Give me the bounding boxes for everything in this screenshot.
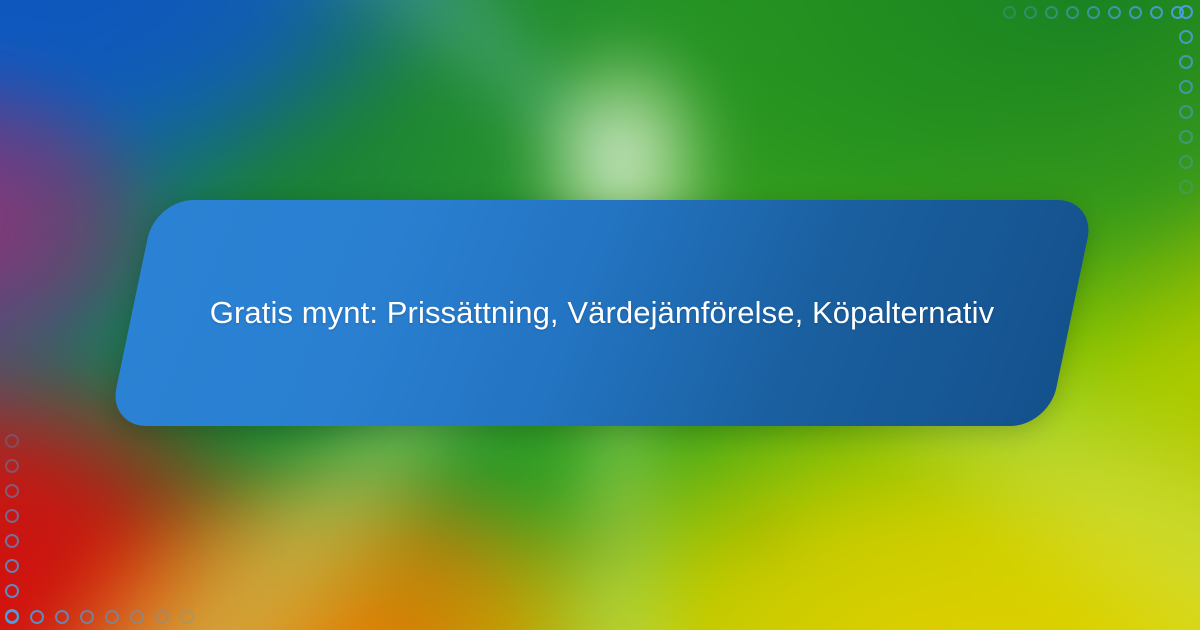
social-share-card: Gratis mynt: Prissättning, Värdejämförel… <box>0 0 1200 630</box>
ring-dot <box>80 610 94 624</box>
ring-dot <box>5 459 19 473</box>
ring-dot <box>1108 6 1121 19</box>
ring-dot <box>1179 30 1193 44</box>
ring-dot <box>5 584 19 598</box>
ring-dot <box>1087 6 1100 19</box>
title-card: Gratis mynt: Prissättning, Värdejämförel… <box>108 200 1095 426</box>
ring-dot <box>1150 6 1163 19</box>
ring-dot <box>1045 6 1058 19</box>
ring-dot <box>5 559 19 573</box>
ring-dot <box>1179 180 1193 194</box>
ring-dot <box>180 610 194 624</box>
ring-dot <box>1179 155 1193 169</box>
title-card-inner: Gratis mynt: Prissättning, Värdejämförel… <box>132 200 1072 426</box>
page-title: Gratis mynt: Prissättning, Värdejämförel… <box>202 288 1002 338</box>
ring-dot <box>130 610 144 624</box>
ring-dot <box>1003 6 1016 19</box>
ring-dot <box>5 484 19 498</box>
ring-dot <box>1179 55 1193 69</box>
ring-dot <box>1179 130 1193 144</box>
ring-dot <box>5 509 19 523</box>
ring-dot <box>30 610 44 624</box>
ring-dot <box>155 610 169 624</box>
ring-dot <box>5 534 19 548</box>
ring-dot <box>1179 105 1193 119</box>
ring-dot <box>1179 80 1193 94</box>
ring-dot <box>1179 5 1193 19</box>
ring-dot <box>5 610 19 624</box>
ring-dot <box>1129 6 1142 19</box>
ring-dot <box>1024 6 1037 19</box>
ring-dot <box>1066 6 1079 19</box>
ring-dot <box>105 610 119 624</box>
ring-dot <box>55 610 69 624</box>
ring-dot <box>5 434 19 448</box>
